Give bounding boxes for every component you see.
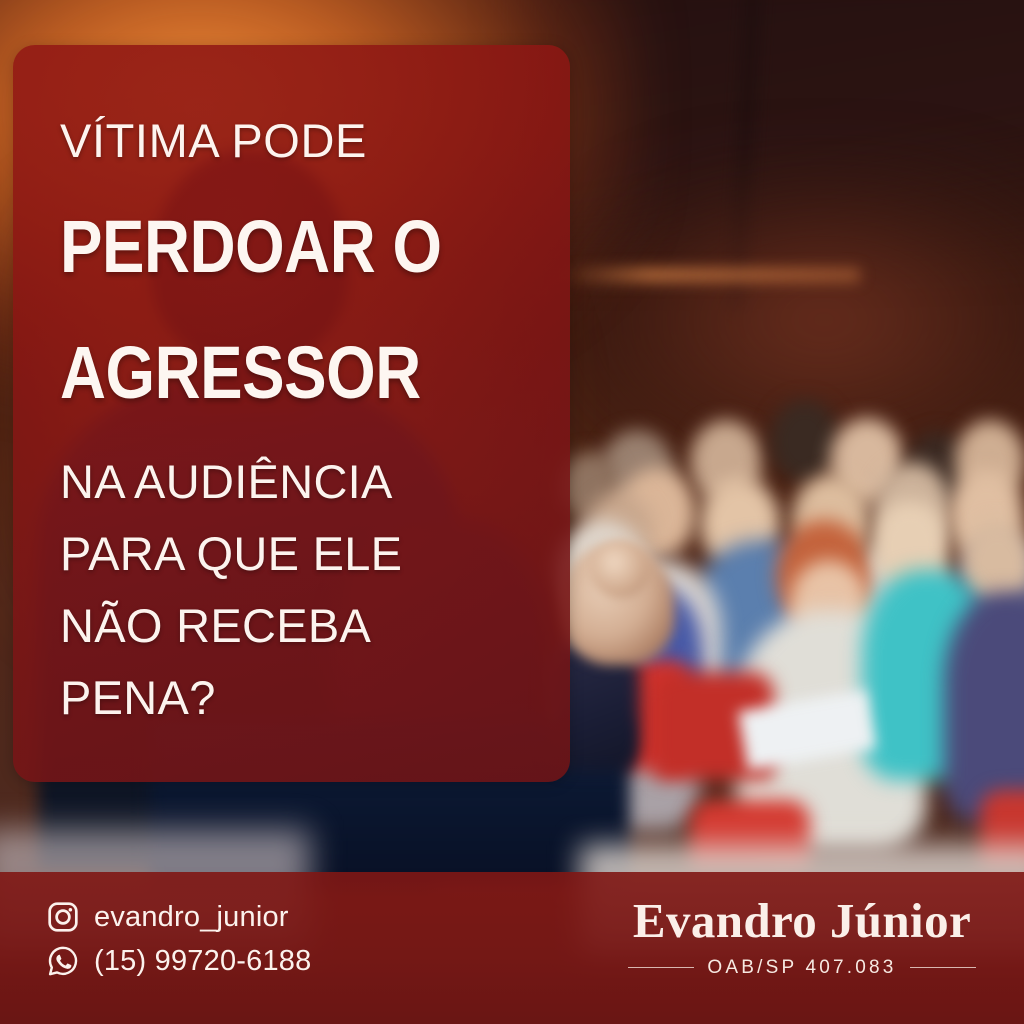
headline-line-1: VÍTIMA PODE xyxy=(60,117,546,164)
footer-bar: evandro_junior (15) 99720-6188 Evandro J… xyxy=(0,872,1024,1024)
stage-edge-highlight xyxy=(560,268,860,282)
hand-fingers xyxy=(590,540,650,598)
brand-logo: Evandro Júnior OAB/SP 407.083 xyxy=(622,894,982,979)
brand-registration-row: OAB/SP 407.083 xyxy=(622,957,982,979)
brand-name: Evandro Júnior xyxy=(622,894,982,948)
headline-panel: VÍTIMA PODE PERDOAR O AGRESSOR NA AUDIÊN… xyxy=(13,45,570,782)
contact-list: evandro_junior (15) 99720-6188 xyxy=(46,900,311,988)
poster-canvas: VÍTIMA PODE PERDOAR O AGRESSOR NA AUDIÊN… xyxy=(0,0,1024,1024)
headline-line-3: AGRESSOR xyxy=(60,336,478,410)
subhead-line-3: NÃO RECEBA xyxy=(60,602,546,649)
subhead-line-4: PENA? xyxy=(60,674,546,721)
headline-line-2: PERDOAR O xyxy=(60,210,478,284)
brand-rule-right xyxy=(910,967,976,968)
headline-text-block: VÍTIMA PODE PERDOAR O AGRESSOR NA AUDIÊN… xyxy=(60,117,546,721)
whatsapp-icon xyxy=(46,944,80,978)
subhead-line-2: PARA QUE ELE xyxy=(60,530,546,577)
brand-registration: OAB/SP 407.083 xyxy=(707,957,896,979)
whatsapp-number: (15) 99720-6188 xyxy=(94,945,311,978)
instagram-handle: evandro_junior xyxy=(94,901,289,934)
contact-whatsapp[interactable]: (15) 99720-6188 xyxy=(46,944,311,978)
subhead-line-1: NA AUDIÊNCIA xyxy=(60,458,546,505)
audience-clothing xyxy=(944,592,1024,822)
instagram-icon xyxy=(46,900,80,934)
contact-instagram[interactable]: evandro_junior xyxy=(46,900,311,934)
brand-rule-left xyxy=(628,967,694,968)
audience-head xyxy=(770,400,840,482)
